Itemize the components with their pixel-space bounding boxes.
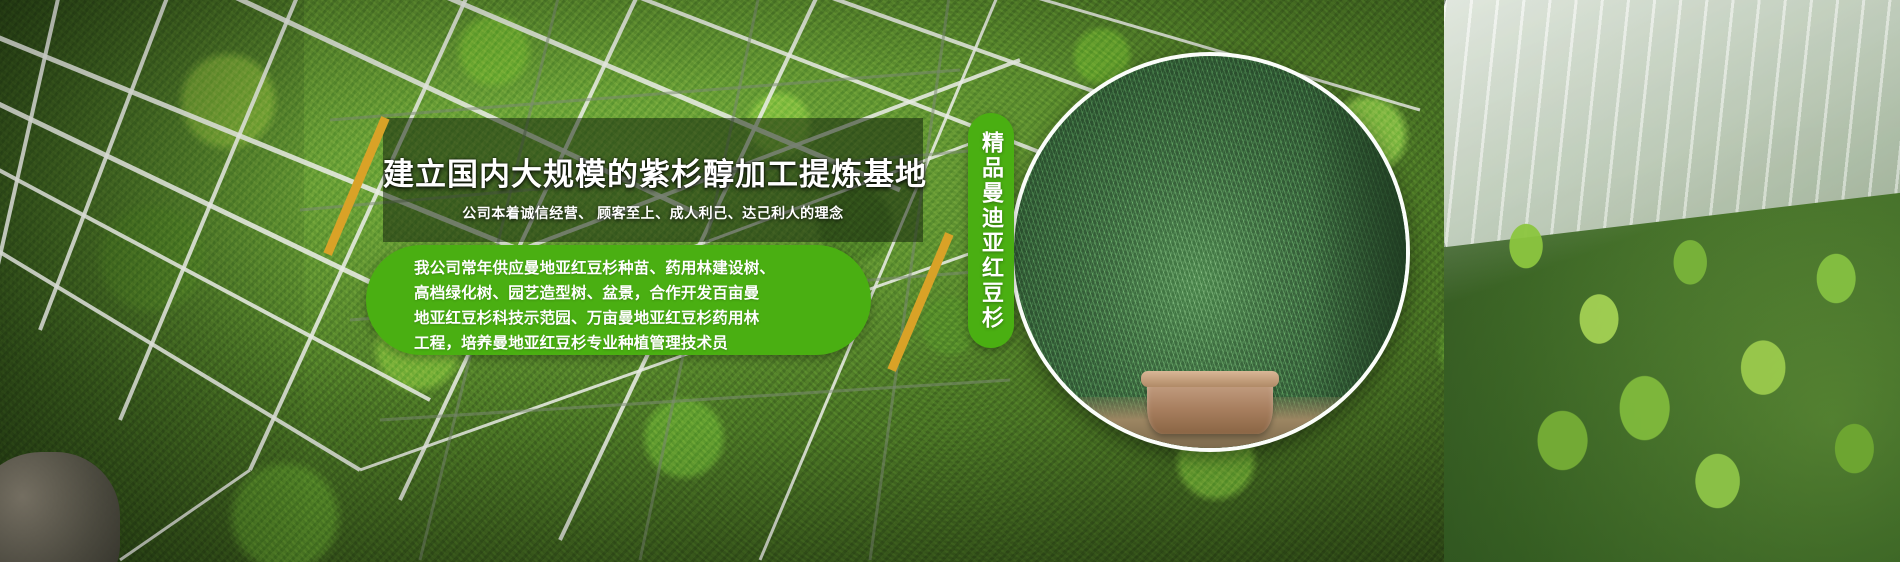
description-line-3: 地亚红豆杉科技示范园、万亩曼地亚红豆杉药用林 — [414, 306, 864, 331]
product-photo-pot — [1147, 378, 1273, 434]
description-line-1: 我公司常年供应曼地亚红豆杉种苗、药用林建设树、 — [414, 256, 864, 281]
description-text: 我公司常年供应曼地亚红豆杉种苗、药用林建设树、 高档绿化树、园艺造型树、盆景，合… — [414, 256, 864, 356]
banner-subheadline: 公司本着诚信经营、 顾客至上、成人利己、达己利人的理念 — [383, 203, 923, 223]
description-line-4: 工程，培养曼地亚红豆杉专业种植管理技术员 — [414, 331, 864, 356]
banner-headline: 建立国内大规模的紫杉醇加工提炼基地 — [383, 158, 923, 192]
grapevine-leaves — [1444, 157, 1900, 562]
product-photo-circle — [1010, 52, 1410, 452]
vertical-label-text: 精品曼迪亚红豆杉 — [968, 113, 1014, 348]
product-photo-pot-rim — [1141, 371, 1279, 387]
promo-banner: 建立国内大规模的紫杉醇加工提炼基地 公司本着诚信经营、 顾客至上、成人利己、达己… — [0, 0, 1900, 562]
right-greenhouse-photo — [1444, 0, 1900, 562]
description-line-2: 高档绿化树、园艺造型树、盆景，合作开发百亩曼 — [414, 281, 864, 306]
product-photo-right-shade — [1312, 56, 1406, 448]
